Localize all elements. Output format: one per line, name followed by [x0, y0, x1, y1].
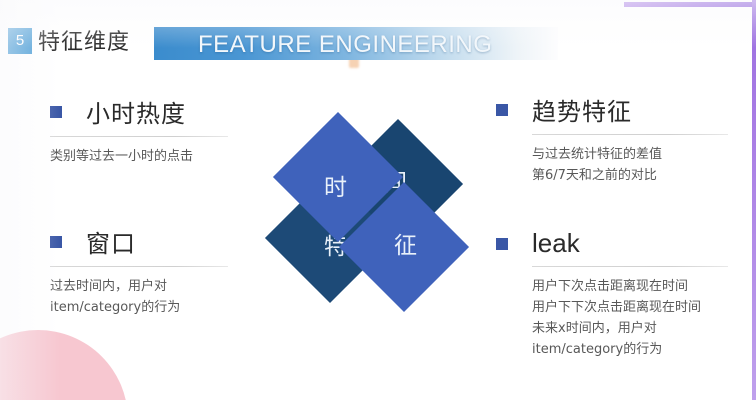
feature-block-leak-title: leak [532, 228, 580, 259]
feature-block-hour-desc: 类别等过去一小时的点击 [50, 146, 250, 167]
desc-line: 与过去统计特征的差值 [532, 144, 726, 165]
diamond-diagram: 时 间 特 征 [268, 118, 488, 314]
desc-line: 用户下下次点击距离现在时间 [532, 297, 726, 318]
divider-line [532, 134, 728, 135]
purple-bar-decoration [624, 2, 754, 7]
feature-block-window-title: 窗口 [86, 224, 136, 259]
pink-circle-decoration [0, 330, 128, 400]
desc-line: 用户下次点击距离现在时间 [532, 276, 726, 297]
feature-block-trend-desc: 与过去统计特征的差值 第6/7天和之前的对比 [532, 144, 726, 186]
feature-block-trend-title: 趋势特征 [532, 92, 632, 127]
desc-line: item/category的行为 [50, 297, 250, 318]
page-title-cn: 特征维度 [38, 24, 130, 56]
square-bullet-icon [50, 236, 62, 248]
feature-block-hour: 小时热度 类别等过去一小时的点击 [50, 94, 250, 167]
feature-block-hour-title: 小时热度 [86, 94, 186, 129]
feature-block-window-desc: 过去时间内，用户对 item/category的行为 [50, 276, 250, 318]
square-bullet-icon [496, 238, 508, 250]
desc-line: item/category的行为 [532, 339, 726, 360]
diamond-tile-label: 时 [324, 168, 348, 202]
diamond-tile-label: 征 [394, 226, 418, 260]
square-bullet-icon [50, 106, 62, 118]
desc-line: 类别等过去一小时的点击 [50, 146, 250, 167]
divider-line [532, 266, 728, 267]
feature-block-leak-desc: 用户下次点击距离现在时间 用户下下次点击距离现在时间 未来x时间内，用户对 it… [532, 276, 726, 360]
feature-block-window-head: 窗口 [50, 224, 250, 259]
desc-line: 第6/7天和之前的对比 [532, 165, 726, 186]
slide-canvas: 5 特征维度 FEATURE ENGINEERING 小时热度 类别等过去一小时… [0, 0, 756, 400]
feature-block-leak: leak 用户下次点击距离现在时间 用户下下次点击距离现在时间 未来x时间内，用… [496, 228, 726, 360]
feature-block-window: 窗口 过去时间内，用户对 item/category的行为 [50, 224, 250, 318]
page-title-en: FEATURE ENGINEERING [198, 31, 492, 59]
feature-block-hour-head: 小时热度 [50, 94, 250, 129]
feature-block-leak-head: leak [496, 228, 726, 259]
feature-block-trend: 趋势特征 与过去统计特征的差值 第6/7天和之前的对比 [496, 92, 726, 186]
square-bullet-icon [496, 104, 508, 116]
divider-line [50, 266, 228, 267]
slide-number-badge: 5 [8, 28, 32, 54]
desc-line: 过去时间内，用户对 [50, 276, 250, 297]
divider-line [50, 136, 228, 137]
feature-block-trend-head: 趋势特征 [496, 92, 726, 127]
desc-line: 未来x时间内，用户对 [532, 318, 726, 339]
purple-line-decoration [752, 0, 756, 400]
slide-header: 5 特征维度 FEATURE ENGINEERING [0, 12, 756, 52]
